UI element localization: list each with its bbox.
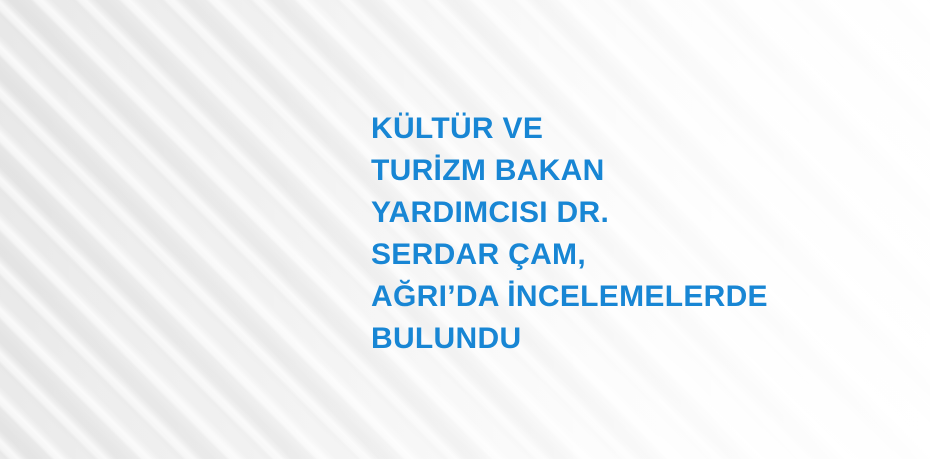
headline-text-block: KÜLTÜR VE TURİZM BAKAN YARDIMCISI DR. SE… [371, 108, 891, 360]
headline-line-4: SERDAR ÇAM, [371, 234, 891, 276]
headline-line-3: YARDIMCISI DR. [371, 192, 891, 234]
headline-line-2: TURİZM BAKAN [371, 150, 891, 192]
headline-line-5: AĞRI’DA İNCELEMELERDE [371, 276, 891, 318]
headline-line-1: KÜLTÜR VE [371, 108, 891, 150]
headline-line-6: BULUNDU [371, 318, 891, 360]
news-thumbnail-card: KÜLTÜR VE TURİZM BAKAN YARDIMCISI DR. SE… [0, 0, 930, 459]
